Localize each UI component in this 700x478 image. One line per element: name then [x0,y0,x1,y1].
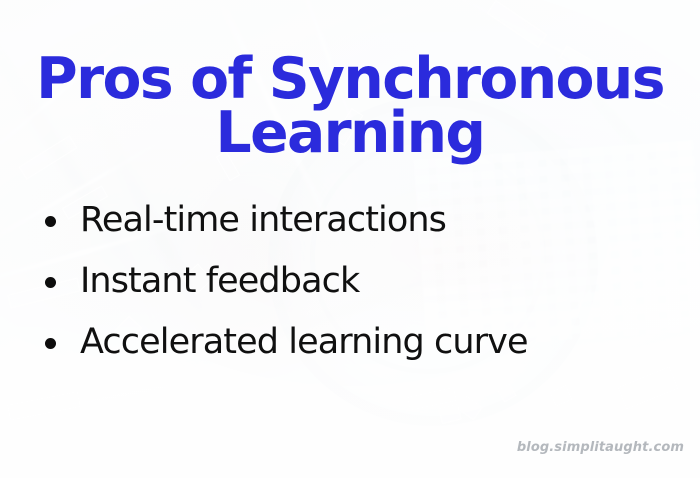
slide-canvas: Pros of Synchronous Learning Real-time i… [0,0,700,478]
slide-title: Pros of Synchronous Learning [2,52,699,160]
bullet-dot-icon [45,216,56,227]
list-item-label: Accelerated learning curve [80,322,528,362]
slide-content: Pros of Synchronous Learning Real-time i… [0,0,700,478]
list-item: Real-time interactions [32,190,694,251]
bullet-dot-icon [45,338,56,349]
list-item-label: Instant feedback [80,261,359,301]
list-item: Accelerated learning curve [32,312,694,373]
bullet-dot-icon [45,277,56,288]
watermark-url: blog.simplitaught.com [517,440,684,455]
list-item: Instant feedback [32,251,694,312]
benefits-list: Real-time interactions Instant feedback … [32,190,694,373]
list-item-label: Real-time interactions [80,200,446,240]
